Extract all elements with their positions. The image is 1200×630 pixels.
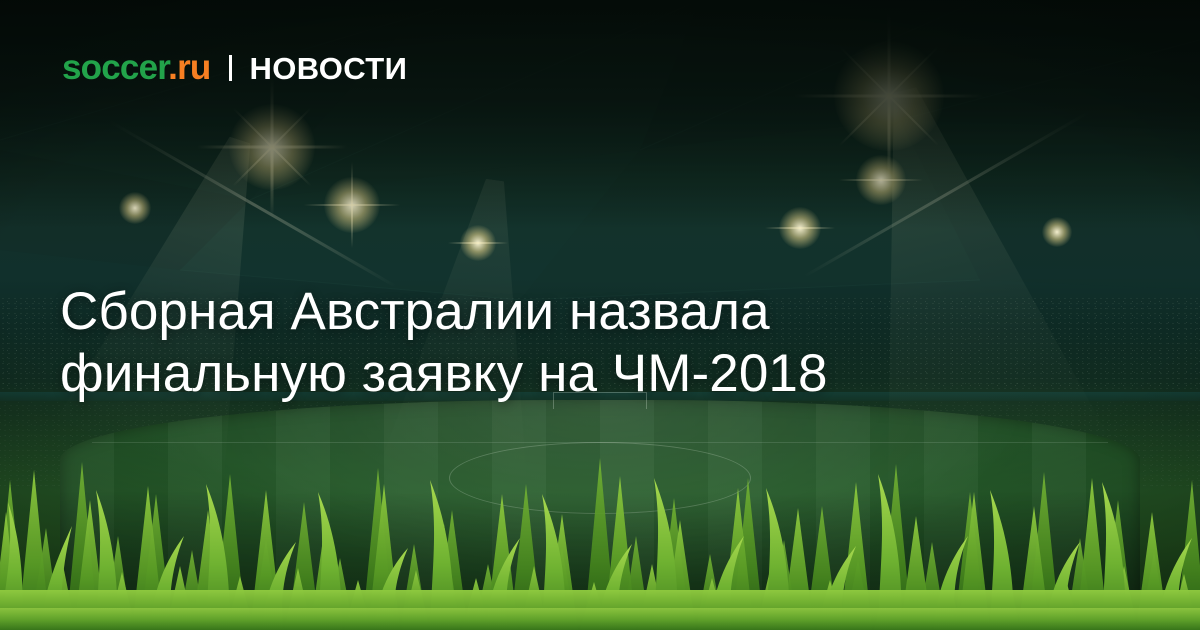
headline-line-1: Сборная Австралии назвала: [60, 282, 770, 341]
headline-line-2: финальную заявку на ЧМ-2018: [60, 343, 1020, 406]
card-content: soccer.ru НОВОСТИ Сборная Австралии назв…: [0, 0, 1200, 630]
header-separator-icon: [229, 55, 232, 81]
logo-domain-part: .ru: [168, 48, 210, 87]
logo-name-part: soccer: [62, 48, 168, 87]
site-logo[interactable]: soccer.ru: [62, 50, 210, 85]
news-share-card: soccer.ru НОВОСТИ Сборная Австралии назв…: [0, 0, 1200, 630]
article-headline: Сборная Австралии назвала финальную заяв…: [60, 281, 1020, 406]
section-label: НОВОСТИ: [249, 53, 407, 84]
brand-header[interactable]: soccer.ru НОВОСТИ: [62, 50, 407, 85]
